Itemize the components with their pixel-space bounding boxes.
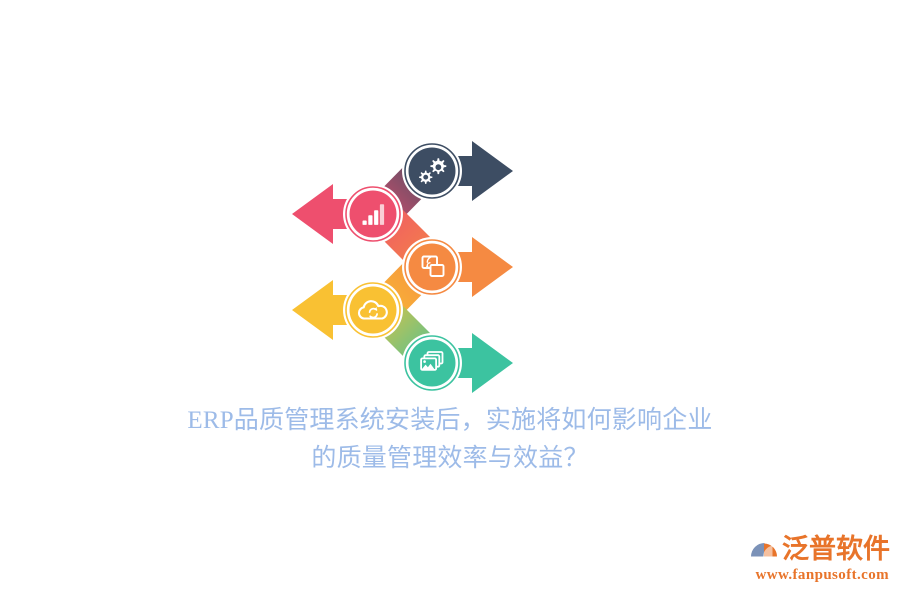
node-gears[interactable]: [402, 141, 462, 201]
infographic-diagram: [270, 125, 535, 395]
logo-brand-text: 泛普软件: [782, 534, 890, 564]
node-screen-cast[interactable]: [402, 237, 462, 297]
infographic-svg: [270, 125, 535, 395]
node-cloud-sync[interactable]: [343, 280, 403, 340]
logo-url-text: www.fanpusoft.com: [742, 567, 890, 584]
page-title: ERP品质管理系统安装后，实施将如何影响企业 的质量管理效率与效益？: [100, 402, 800, 478]
node-photo-gallery[interactable]: [402, 333, 462, 393]
photo-gallery-icon: [421, 352, 442, 370]
fanpu-logo-icon: [749, 535, 779, 563]
logo-row: 泛普软件: [742, 530, 890, 568]
brand-logo: 泛普软件 www.fanpusoft.com: [742, 530, 890, 592]
node-bar-chart[interactable]: [343, 184, 403, 244]
